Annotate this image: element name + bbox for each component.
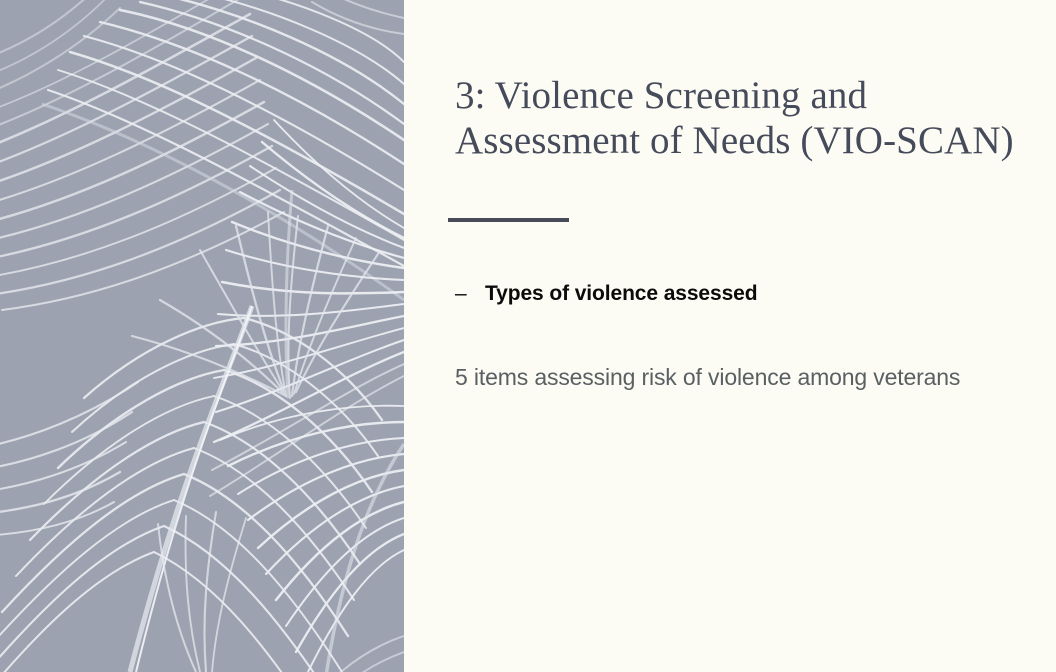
dash-bullet-icon: – <box>455 281 485 306</box>
title-divider-rule <box>448 218 569 222</box>
page-title: 3: Violence Screening and Assessment of … <box>455 74 1015 163</box>
body-paragraph: 5 items assessing risk of violence among… <box>455 356 985 399</box>
feather-palm-frond-pattern-icon <box>0 0 404 672</box>
slide-content-area: 3: Violence Screening and Assessment of … <box>404 0 1056 672</box>
bullet-item-label: Types of violence assessed <box>485 281 757 306</box>
presentation-slide: 3: Violence Screening and Assessment of … <box>0 0 1056 672</box>
bullet-item: – Types of violence assessed <box>455 281 1015 306</box>
decorative-panel <box>0 0 404 672</box>
